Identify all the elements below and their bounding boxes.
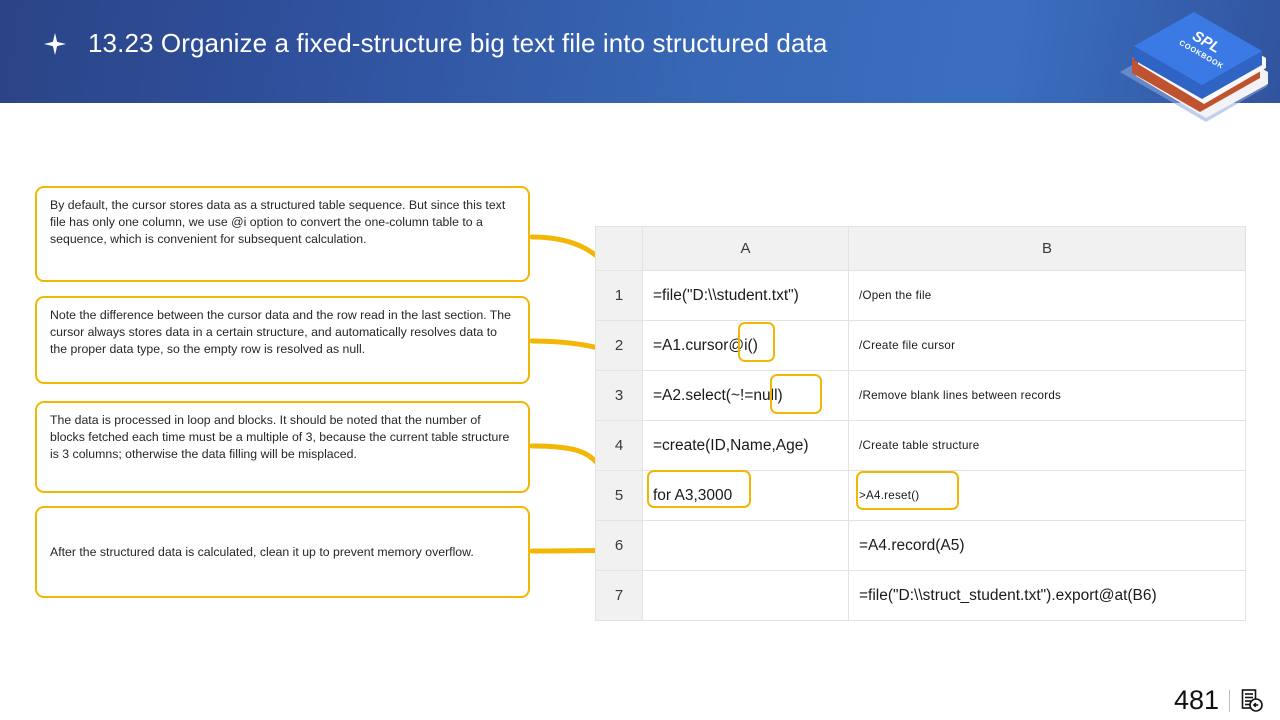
table-row: 2=A1.cursor@i()/Create file cursor [596,321,1246,371]
page-number: 481 [1174,687,1219,714]
cell-b2[interactable]: /Create file cursor [849,321,1246,371]
cell-b6[interactable]: =A4.record(A5) [849,521,1246,571]
cell-a4[interactable]: =create(ID,Name,Age) [643,421,849,471]
footer: 481 [1174,687,1264,714]
table-row: 1=file("D:\\student.txt")/Open the file [596,271,1246,321]
callout-text: The data is processed in loop and blocks… [50,413,509,461]
callout-null-resolution: Note the difference between the cursor d… [35,296,530,384]
cell-a3[interactable]: =A2.select(~!=null) [643,371,849,421]
callout-cursor-sequence: By default, the cursor stores data as a … [35,186,530,282]
cell-a5[interactable]: for A3,3000 [643,471,849,521]
row-number: 5 [596,471,643,521]
cell-a2[interactable]: =A1.cursor@i() [643,321,849,371]
callout-memory-cleanup: After the structured data is calculated,… [35,506,530,598]
row-number: 1 [596,271,643,321]
document-back-icon[interactable] [1240,688,1264,714]
table-row: 7=file("D:\\struct_student.txt").export@… [596,571,1246,621]
col-header-corner [596,227,643,271]
row-number: 6 [596,521,643,571]
callout-loop-blocks: The data is processed in loop and blocks… [35,401,530,493]
callout-text: Note the difference between the cursor d… [50,308,511,356]
table-row: 4=create(ID,Name,Age)/Create table struc… [596,421,1246,471]
cell-b3[interactable]: /Remove blank lines between records [849,371,1246,421]
col-header-a: A [643,227,849,271]
row-number: 4 [596,421,643,471]
table-header-row: A B [596,227,1246,271]
callout-text: After the structured data is calculated,… [50,544,474,561]
table-body: 1=file("D:\\student.txt")/Open the file2… [596,271,1246,621]
callout-text: By default, the cursor stores data as a … [50,198,505,246]
row-number: 2 [596,321,643,371]
footer-divider [1229,690,1230,712]
cell-a7[interactable] [643,571,849,621]
header-banner: 13.23 Organize a fixed-structure big tex… [0,0,1280,103]
cell-a6[interactable] [643,521,849,571]
row-number: 3 [596,371,643,421]
spl-code-table: A B 1=file("D:\\student.txt")/Open the f… [595,226,1246,621]
sparkle-star-icon [44,33,66,55]
col-header-b: B [849,227,1246,271]
table-row: 6=A4.record(A5) [596,521,1246,571]
row-number: 7 [596,571,643,621]
table-row: 5for A3,3000>A4.reset() [596,471,1246,521]
cell-b1[interactable]: /Open the file [849,271,1246,321]
cell-b7[interactable]: =file("D:\\struct_student.txt").export@a… [849,571,1246,621]
cell-b4[interactable]: /Create table structure [849,421,1246,471]
cell-a1[interactable]: =file("D:\\student.txt") [643,271,849,321]
header-title-row: 13.23 Organize a fixed-structure big tex… [44,28,827,59]
table-row: 3=A2.select(~!=null)/Remove blank lines … [596,371,1246,421]
cell-b5[interactable]: >A4.reset() [849,471,1246,521]
page-title: 13.23 Organize a fixed-structure big tex… [88,28,827,59]
